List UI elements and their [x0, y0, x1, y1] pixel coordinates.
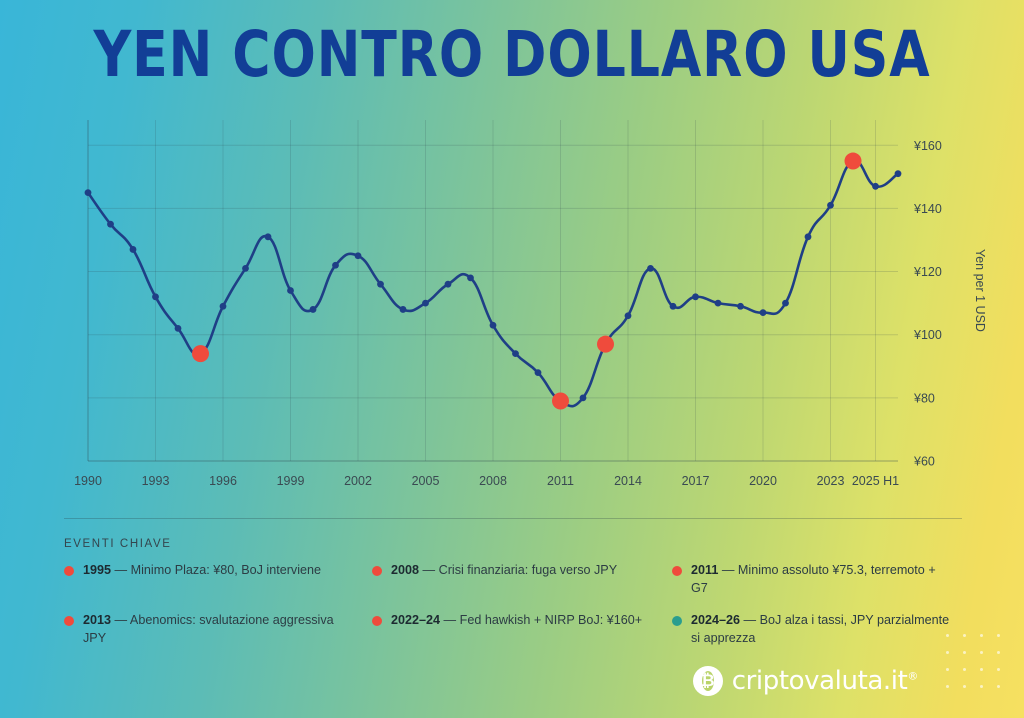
- data-point-highlight: [192, 345, 209, 362]
- legend-grid: 1995 — Minimo Plaza: ¥80, BoJ interviene…: [64, 562, 964, 648]
- legend-item-body: — Crisi finanziaria: fuga verso JPY: [419, 563, 617, 577]
- legend-item-year: 2022–24: [391, 613, 440, 627]
- y-axis-tick-label: ¥60: [913, 455, 935, 469]
- legend-bullet-icon: [672, 566, 682, 576]
- line-chart: ¥160¥140¥120¥100¥80¥60199019931996199920…: [0, 118, 1024, 498]
- decorative-dot-grid: [946, 634, 1006, 694]
- legend: EVENTI CHIAVE 1995 — Minimo Plaza: ¥80, …: [64, 538, 964, 648]
- y-axis-tick-label: ¥100: [913, 328, 942, 342]
- legend-item-body: — Minimo Plaza: ¥80, BoJ interviene: [111, 563, 321, 577]
- x-axis-tick-label: 2020: [749, 474, 777, 488]
- coin-icon: ₿: [693, 666, 723, 696]
- data-point-marker: [827, 202, 834, 209]
- legend-item: 2024–26 — BoJ alza i tassi, JPY parzialm…: [672, 612, 964, 648]
- legend-item: 2008 — Crisi finanziaria: fuga verso JPY: [372, 562, 672, 598]
- data-point-marker: [760, 309, 767, 316]
- legend-item-text: 2022–24 — Fed hawkish + NIRP BoJ: ¥160+: [391, 612, 642, 630]
- page-title: YEN CONTRO DOLLARO USA: [41, 18, 983, 91]
- x-axis-tick-label: 2008: [479, 474, 507, 488]
- legend-bullet-icon: [64, 566, 74, 576]
- x-axis-tick-label: 1999: [277, 474, 305, 488]
- data-point-marker: [715, 300, 722, 307]
- data-point-marker: [535, 369, 542, 376]
- legend-bullet-icon: [372, 616, 382, 626]
- section-divider: [64, 518, 962, 519]
- x-axis-tick-label: 2017: [682, 474, 710, 488]
- data-point-marker: [467, 274, 474, 281]
- data-point-marker: [445, 281, 452, 288]
- y-axis-tick-label: ¥160: [913, 139, 942, 153]
- y-axis-tick-label: ¥120: [913, 265, 942, 279]
- data-point-marker: [422, 300, 429, 307]
- brand-logo: ₿ criptovaluta.it®: [693, 666, 918, 696]
- x-axis-tick-label: 2002: [344, 474, 372, 488]
- legend-bullet-icon: [372, 566, 382, 576]
- data-point-marker: [242, 265, 249, 272]
- data-point-marker: [670, 303, 677, 310]
- data-point-marker: [152, 293, 159, 300]
- data-point-marker: [220, 303, 227, 310]
- legend-item-body: — Abenomics: svalutazione aggressiva JPY: [83, 613, 334, 645]
- x-axis-tick-label: 2014: [614, 474, 642, 488]
- data-point-marker: [692, 293, 699, 300]
- legend-item-year: 2008: [391, 563, 419, 577]
- x-axis-tick-label: 1996: [209, 474, 237, 488]
- data-point-marker: [647, 265, 654, 272]
- data-point-highlight: [552, 393, 569, 410]
- data-point-marker: [400, 306, 407, 313]
- coin-glyph: ₿: [693, 666, 723, 696]
- legend-item-text: 2011 — Minimo assoluto ¥75.3, terremoto …: [691, 562, 950, 598]
- legend-item-text: 2024–26 — BoJ alza i tassi, JPY parzialm…: [691, 612, 950, 648]
- legend-heading: EVENTI CHIAVE: [64, 538, 964, 550]
- data-point-marker: [895, 170, 902, 177]
- data-point-marker: [130, 246, 137, 253]
- x-axis-tick-label: 2011: [547, 474, 574, 488]
- brand-name: criptovaluta.it®: [732, 666, 918, 696]
- legend-item: 1995 — Minimo Plaza: ¥80, BoJ interviene: [64, 562, 372, 598]
- y-axis-tick-label: ¥140: [913, 202, 942, 216]
- data-point-marker: [737, 303, 744, 310]
- legend-item-year: 1995: [83, 563, 111, 577]
- legend-item-text: 2008 — Crisi finanziaria: fuga verso JPY: [391, 562, 617, 580]
- y-axis-title: Yen per 1 USD: [973, 249, 987, 332]
- data-point-marker: [355, 252, 362, 259]
- data-point-marker: [805, 233, 812, 240]
- data-point-marker: [782, 300, 789, 307]
- data-point-marker: [625, 312, 632, 319]
- chart-container: ¥160¥140¥120¥100¥80¥60199019931996199920…: [0, 118, 1024, 498]
- data-point-marker: [512, 350, 519, 357]
- x-axis-tick-label: 1990: [74, 474, 102, 488]
- legend-item-year: 2011: [691, 563, 718, 577]
- data-point-marker: [85, 189, 92, 196]
- data-point-highlight: [597, 336, 614, 353]
- infographic-root: YEN CONTRO DOLLARO USA ¥160¥140¥120¥100¥…: [0, 0, 1024, 718]
- legend-bullet-icon: [672, 616, 682, 626]
- legend-item-text: 1995 — Minimo Plaza: ¥80, BoJ interviene: [83, 562, 321, 580]
- data-point-marker: [580, 394, 587, 401]
- data-point-marker: [265, 233, 272, 240]
- data-point-marker: [377, 281, 384, 288]
- data-point-marker: [310, 306, 317, 313]
- legend-bullet-icon: [64, 616, 74, 626]
- legend-item-body: — Minimo assoluto ¥75.3, terremoto + G7: [691, 563, 936, 595]
- legend-item: 2022–24 — Fed hawkish + NIRP BoJ: ¥160+: [372, 612, 672, 648]
- data-point-highlight: [845, 153, 862, 170]
- data-point-marker: [490, 322, 497, 329]
- y-axis-tick-label: ¥80: [913, 391, 935, 405]
- data-point-marker: [872, 183, 879, 190]
- legend-item-year: 2013: [83, 613, 111, 627]
- x-axis-tick-label: 2023: [817, 474, 845, 488]
- x-axis-tick-label: 2005: [412, 474, 440, 488]
- legend-item-body: — Fed hawkish + NIRP BoJ: ¥160+: [440, 613, 642, 627]
- legend-item-text: 2013 — Abenomics: svalutazione aggressiv…: [83, 612, 358, 648]
- data-point-marker: [175, 325, 182, 332]
- x-axis-tick-label: 2025 H1: [852, 474, 899, 488]
- brand-name-text: criptovaluta.it: [732, 666, 908, 696]
- x-axis-tick-label: 1993: [142, 474, 170, 488]
- legend-item: 2011 — Minimo assoluto ¥75.3, terremoto …: [672, 562, 964, 598]
- legend-item-year: 2024–26: [691, 613, 740, 627]
- legend-item: 2013 — Abenomics: svalutazione aggressiv…: [64, 612, 372, 648]
- data-point-marker: [287, 287, 294, 294]
- registered-mark: ®: [907, 669, 918, 682]
- data-point-marker: [332, 262, 339, 269]
- data-point-marker: [107, 221, 114, 228]
